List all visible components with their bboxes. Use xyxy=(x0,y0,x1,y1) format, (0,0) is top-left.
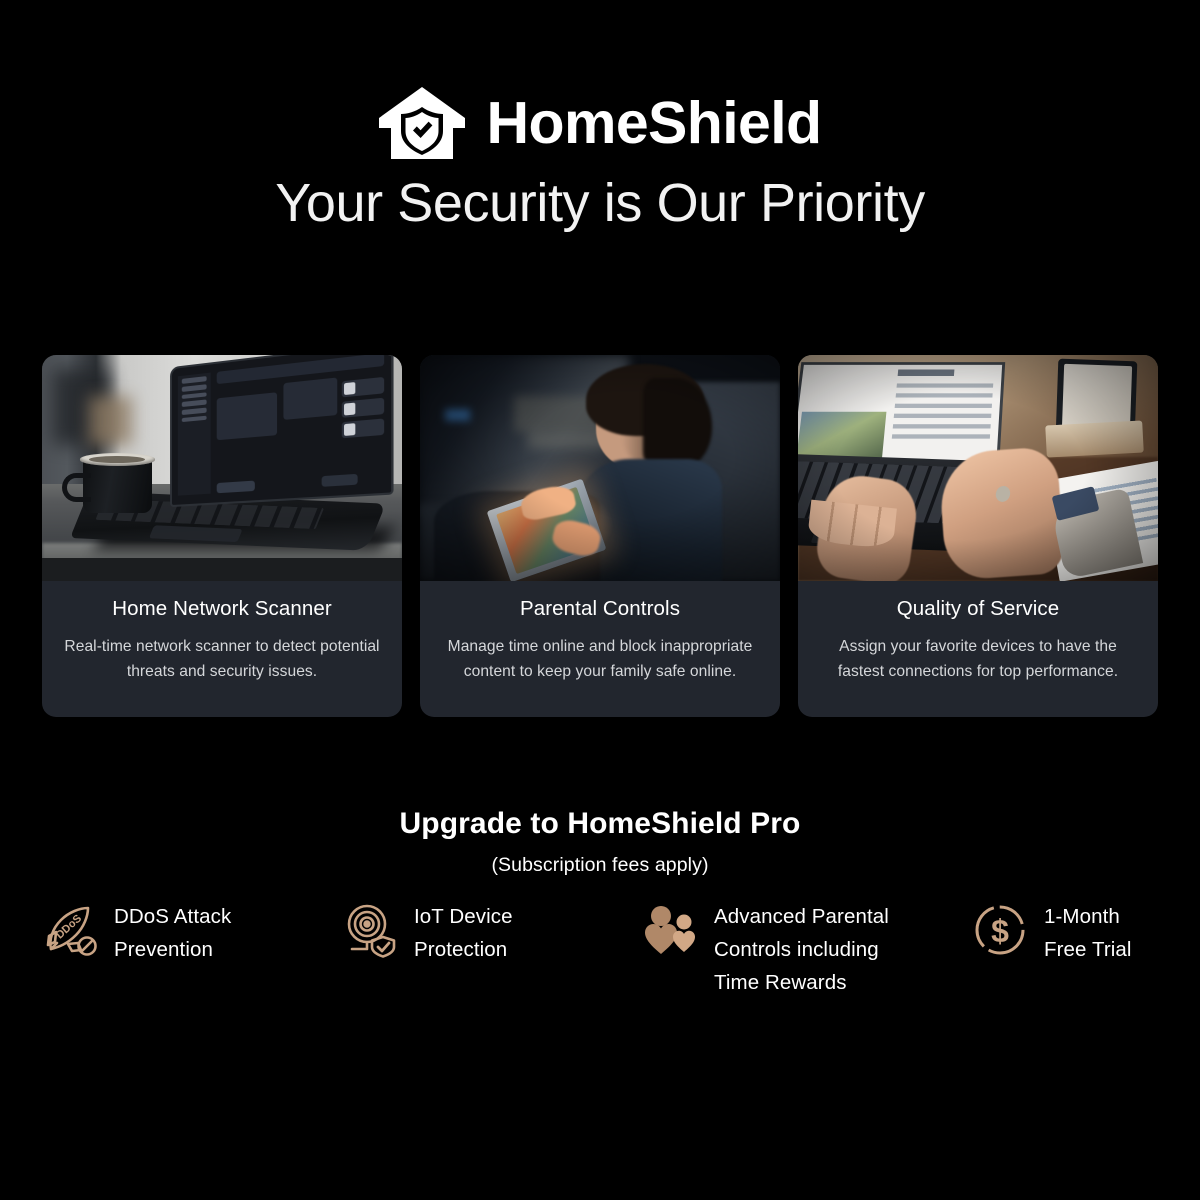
parent-child-hearts-icon xyxy=(642,902,698,958)
feature-cards: Home Network Scanner Real-time network s… xyxy=(42,355,1158,717)
pro-feature-label: 1-Month Free Trial xyxy=(1044,900,1132,966)
feature-card-title: Parental Controls xyxy=(440,597,760,622)
pro-subtitle: (Subscription fees apply) xyxy=(0,854,1200,877)
brand-name: HomeShield xyxy=(487,94,822,153)
tagline: Your Security is Our Priority xyxy=(0,172,1200,234)
feature-card-body: Quality of Service Assign your favorite … xyxy=(798,581,1158,717)
feature-card[interactable]: Quality of Service Assign your favorite … xyxy=(798,355,1158,717)
pro-feature-item[interactable]: Advanced Parental Controls including Tim… xyxy=(642,900,972,1000)
feature-card-body: Home Network Scanner Real-time network s… xyxy=(42,581,402,717)
pro-upgrade-section: Upgrade to HomeShield Pro (Subscription … xyxy=(0,806,1200,877)
feature-card-description: Real-time network scanner to detect pote… xyxy=(62,634,382,685)
dollar-circle-icon: $ xyxy=(972,902,1028,958)
feature-card-title: Home Network Scanner xyxy=(62,597,382,622)
pro-feature-label: IoT Device Protection xyxy=(414,900,513,966)
pro-features-row: DDoS DDoS Attack Prevention IoT Device xyxy=(42,900,1162,1000)
rocket-ddos-label: DDoS xyxy=(54,913,84,942)
pro-feature-item[interactable]: $ 1-Month Free Trial xyxy=(972,900,1162,1000)
laptop-on-counter-photo xyxy=(42,355,402,581)
feature-card[interactable]: Parental Controls Manage time online and… xyxy=(420,355,780,717)
feature-card-description: Manage time online and block inappropria… xyxy=(440,634,760,685)
hands-typing-laptop-photo xyxy=(798,355,1158,581)
feature-card-body: Parental Controls Manage time online and… xyxy=(420,581,780,717)
dollar-sign-glyph: $ xyxy=(991,913,1009,949)
child-with-tablet-photo xyxy=(420,355,780,581)
pro-feature-item[interactable]: IoT Device Protection xyxy=(342,900,642,1000)
feature-card[interactable]: Home Network Scanner Real-time network s… xyxy=(42,355,402,717)
pro-feature-item[interactable]: DDoS DDoS Attack Prevention xyxy=(42,900,342,1000)
pro-feature-label: Advanced Parental Controls including Tim… xyxy=(714,900,889,1000)
webcam-shield-check-icon xyxy=(342,902,398,958)
pro-title: Upgrade to HomeShield Pro xyxy=(0,806,1200,842)
feature-card-description: Assign your favorite devices to have the… xyxy=(818,634,1138,685)
rocket-ddos-blocked-icon: DDoS xyxy=(42,902,98,958)
pro-feature-label: DDoS Attack Prevention xyxy=(114,900,231,966)
house-shield-check-icon xyxy=(379,87,465,159)
feature-card-title: Quality of Service xyxy=(818,597,1138,622)
brand-row: HomeShield xyxy=(0,86,1200,160)
homeshield-promo-page: HomeShield Your Security is Our Priority xyxy=(0,0,1200,1200)
header: HomeShield Your Security is Our Priority xyxy=(0,0,1200,234)
